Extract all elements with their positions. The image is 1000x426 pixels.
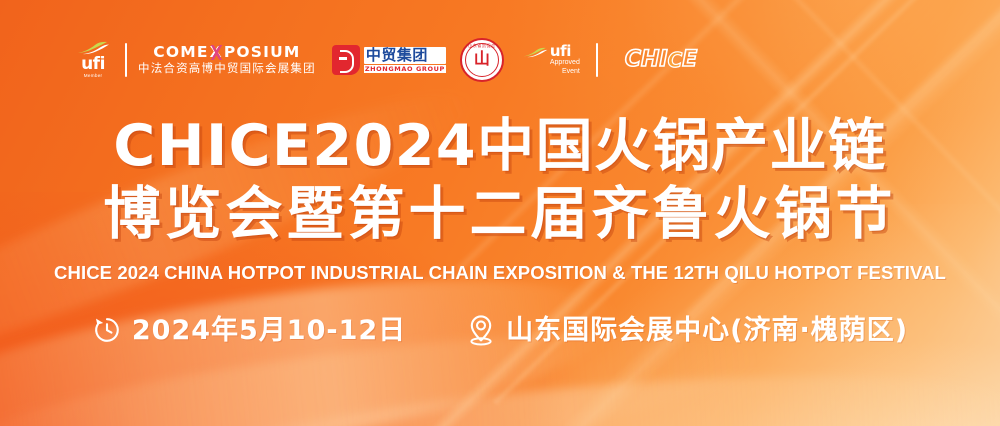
red-seal-icon: 山东省贸促会 山	[460, 38, 504, 82]
logo-divider	[125, 43, 127, 77]
ufi-approved-text-block: ufi Approved Event	[550, 44, 580, 75]
event-venue-item: 山东国际会展中心(济南·槐荫区)	[466, 314, 908, 346]
logo-chice-wordmark: CHI C E	[625, 49, 697, 71]
logo-ufi-approved-event: ufi Approved Event	[522, 44, 580, 75]
zhongmao-chinese-name: 中贸集团	[364, 47, 446, 64]
comexposium-text-after: POSIUM	[224, 45, 301, 61]
event-promo-banner: ufi Member COME X POSIUM 中法合资高博中贸国际会展集团 …	[0, 0, 1000, 426]
comexposium-chinese-name: 中法合资高博中贸国际会展集团	[138, 64, 316, 76]
headline-line-1: CHICE2024中国火锅产业链	[0, 112, 1000, 180]
ufi-approved-sub-line2: Event	[550, 68, 580, 76]
zhongmao-text-block: 中贸集团 ZHONGMAO GROUP	[364, 47, 446, 74]
sponsor-logo-bar: ufi Member COME X POSIUM 中法合资高博中贸国际会展集团 …	[72, 36, 697, 84]
seal-arc-text: 山东省贸促会	[462, 43, 502, 49]
event-venue-text: 山东国际会展中心(济南·槐荫区)	[506, 317, 908, 344]
chice-flame-glyph: C	[668, 50, 683, 70]
event-info-row: 2024年5月10-12日 山东国际会展中心(济南·槐荫区)	[0, 314, 1000, 346]
event-date-item: 2024年5月10-12日	[92, 315, 406, 345]
chice-text-before: CHI	[625, 49, 668, 71]
ufi-approved-sub-line1: Approved	[550, 59, 580, 67]
seal-center-glyph: 山	[462, 52, 502, 68]
subtitle-english: CHICE 2024 CHINA HOTPOT INDUSTRIAL CHAIN…	[0, 262, 1000, 284]
ufi-approved-word: ufi	[550, 44, 580, 59]
ufi-member-sub: Member	[84, 74, 103, 79]
location-pin-icon	[466, 314, 496, 346]
logo-comexposium: COME X POSIUM 中法合资高博中贸国际会展集团	[138, 45, 316, 76]
zhongmao-english-name: ZHONGMAO GROUP	[364, 65, 446, 74]
chice-text-after: E	[682, 49, 697, 71]
ufi-wing-icon	[522, 46, 548, 59]
comexposium-wordmark: COME X POSIUM	[153, 45, 300, 61]
ufi-member-word: ufi	[81, 56, 105, 73]
logo-divider	[596, 43, 598, 77]
headline-line-2: 博览会暨第十二届齐鲁火锅节	[0, 180, 1000, 248]
event-date-text: 2024年5月10-12日	[132, 317, 406, 344]
zhongmao-mark-icon	[332, 45, 360, 75]
comexposium-x-glyph: X	[209, 45, 224, 61]
comexposium-text-before: COME	[153, 45, 208, 61]
headline-block: CHICE2024中国火锅产业链 博览会暨第十二届齐鲁火锅节	[0, 112, 1000, 248]
ufi-wing-icon	[76, 41, 110, 55]
logo-ufi-member: ufi Member	[72, 41, 114, 80]
clock-icon	[92, 315, 122, 345]
logo-zhongmao-group: 中贸集团 ZHONGMAO GROUP	[332, 45, 446, 75]
